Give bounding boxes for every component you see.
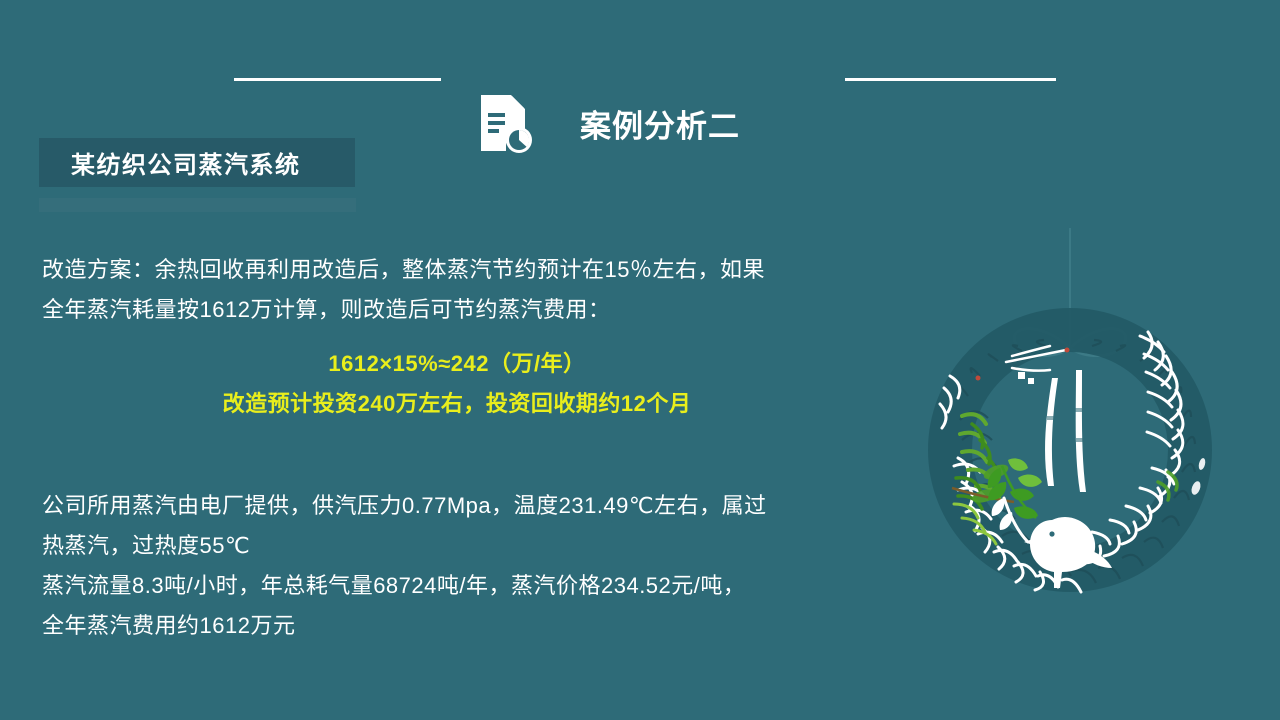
paragraph-plan-line-2: 全年蒸汽耗量按1612万计算，则改造后可节约蒸汽费用： — [42, 290, 765, 330]
header-rule-right — [845, 78, 1056, 81]
paragraph-plan-line-1: 改造方案：余热回收再利用改造后，整体蒸汽节约预计在15％左右，如果 — [42, 250, 765, 290]
slide-canvas: 案例分析二 某纺织公司蒸汽系统 改造方案：余热回收再利用改造后，整体蒸汽节约预计… — [0, 0, 1280, 720]
highlight-line-formula: 1612×15%≈242（万/年） — [42, 344, 872, 384]
wreath-with-bird-illustration — [900, 220, 1240, 640]
paragraph-plan: 改造方案：余热回收再利用改造后，整体蒸汽节约预计在15％左右，如果 全年蒸汽耗量… — [42, 250, 765, 330]
document-chart-icon — [478, 93, 534, 155]
paragraph-usage-line-2: 全年蒸汽费用约1612万元 — [42, 606, 745, 646]
header-rule-left — [234, 78, 441, 81]
paragraph-specs-line-1: 公司所用蒸汽由电厂提供，供汽压力0.77Mpa，温度231.49℃左右，属过 — [42, 486, 767, 526]
highlight-calculation: 1612×15%≈242（万/年） 改造预计投资240万左右，投资回收期约12个… — [42, 344, 872, 424]
section-banner-label: 某纺织公司蒸汽系统 — [39, 145, 301, 180]
paragraph-steam-specs: 公司所用蒸汽由电厂提供，供汽压力0.77Mpa，温度231.49℃左右，属过 热… — [42, 486, 767, 566]
paragraph-usage-line-1: 蒸汽流量8.3吨/小时，年总耗气量68724吨/年，蒸汽价格234.52元/吨， — [42, 566, 745, 606]
page-title: 案例分析二 — [580, 101, 810, 146]
bird-figure — [1024, 517, 1112, 588]
slide-header: 案例分析二 — [0, 45, 1280, 115]
paragraph-steam-usage: 蒸汽流量8.3吨/小时，年总耗气量68724吨/年，蒸汽价格234.52元/吨，… — [42, 566, 745, 646]
section-underbar — [39, 198, 356, 212]
section-banner: 某纺织公司蒸汽系统 — [39, 138, 355, 187]
paragraph-specs-line-2: 热蒸汽，过热度55℃ — [42, 526, 767, 566]
highlight-line-payback: 改造预计投资240万左右，投资回收期约12个月 — [42, 384, 872, 424]
